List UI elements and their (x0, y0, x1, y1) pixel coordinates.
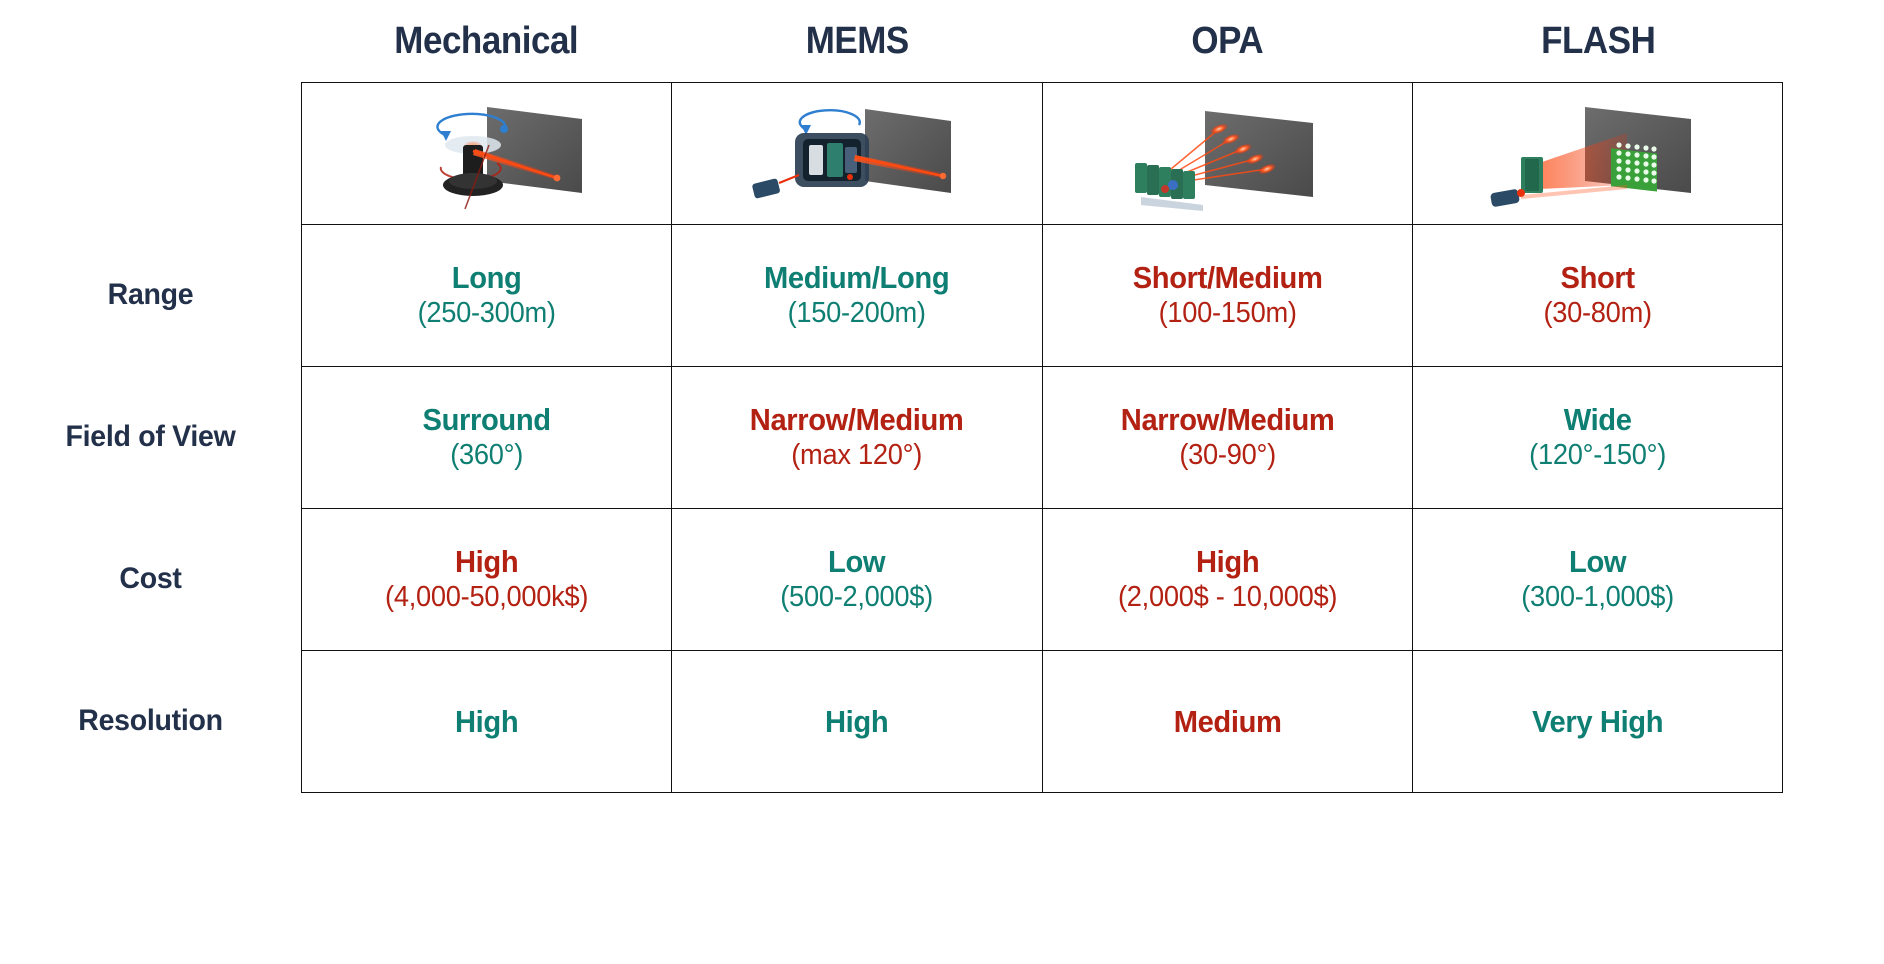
cell-range-flash: Short (30-80m) (1412, 225, 1782, 367)
cell-resolution-opa: Medium (1042, 651, 1412, 793)
cell-value-sub: (150-200m) (683, 296, 1030, 331)
cell-value-main: Short (1424, 260, 1771, 296)
row-label-range: Range (8, 224, 294, 366)
cell-value-main: Medium (1054, 704, 1401, 740)
cell-illustration-mechanical (302, 83, 672, 225)
cell-value-main: High (683, 704, 1030, 740)
cell-range-mems: Medium/Long (150-200m) (672, 225, 1042, 367)
table-row: High (4,000-50,000k$) Low (500-2,000$) H… (302, 509, 1783, 651)
lidar-comparison-table-page: Mechanical MEMS OPA FLASH Range Field of… (0, 0, 1884, 964)
cell-value-main: High (313, 544, 660, 580)
cell-value-sub: (100-150m) (1054, 296, 1401, 331)
row-label-text: Range (108, 278, 194, 312)
mems-lidar-icon (672, 83, 1041, 224)
flash-lidar-icon (1413, 83, 1782, 224)
cell-value-main: Narrow/Medium (1054, 402, 1401, 438)
cell-value-sub: (max 120°) (683, 438, 1030, 473)
cell-fov-opa: Narrow/Medium (30-90°) (1042, 367, 1412, 509)
cell-resolution-mems: High (672, 651, 1042, 793)
cell-value-sub: (120°-150°) (1424, 438, 1771, 473)
cell-resolution-mechanical: High (302, 651, 672, 793)
cell-value-sub: (2,000$ - 10,000$) (1054, 580, 1401, 615)
cell-value-main: Narrow/Medium (683, 402, 1030, 438)
column-header-mechanical: Mechanical (316, 0, 657, 82)
row-label-resolution: Resolution (8, 650, 294, 792)
cell-value-main: Very High (1424, 704, 1771, 740)
column-header-mems: MEMS (686, 0, 1027, 82)
cell-value-main: Low (1424, 544, 1771, 580)
cell-value-sub: (300-1,000$) (1424, 580, 1771, 615)
cell-cost-mechanical: High (4,000-50,000k$) (302, 509, 672, 651)
column-header-row: Mechanical MEMS OPA FLASH (301, 0, 1783, 82)
cell-cost-flash: Low (300-1,000$) (1412, 509, 1782, 651)
row-label-cost: Cost (8, 508, 294, 650)
cell-value-main: Long (313, 260, 660, 296)
column-header-flash: FLASH (1427, 0, 1768, 82)
column-header-label: OPA (1191, 20, 1263, 63)
cell-value-sub: (4,000-50,000k$) (313, 580, 660, 615)
cell-value-sub: (30-90°) (1054, 438, 1401, 473)
cell-fov-mems: Narrow/Medium (max 120°) (672, 367, 1042, 509)
cell-value-sub: (250-300m) (313, 296, 660, 331)
cell-illustration-flash (1412, 83, 1782, 225)
cell-illustration-mems (672, 83, 1042, 225)
cell-value-sub: (360°) (313, 438, 660, 473)
cell-resolution-flash: Very High (1412, 651, 1782, 793)
cell-cost-mems: Low (500-2,000$) (672, 509, 1042, 651)
table-row: Surround (360°) Narrow/Medium (max 120°)… (302, 367, 1783, 509)
cell-value-sub: (500-2,000$) (683, 580, 1030, 615)
table-row: High High Medium Very High (302, 651, 1783, 793)
cell-value-sub: (30-80m) (1424, 296, 1771, 331)
cell-value-main: Surround (313, 402, 660, 438)
row-label-text: Cost (119, 562, 181, 596)
cell-range-opa: Short/Medium (100-150m) (1042, 225, 1412, 367)
row-label-text: Field of View (66, 420, 236, 454)
cell-fov-flash: Wide (120°-150°) (1412, 367, 1782, 509)
cell-fov-mechanical: Surround (360°) (302, 367, 672, 509)
cell-cost-opa: High (2,000$ - 10,000$) (1042, 509, 1412, 651)
mechanical-lidar-icon (302, 83, 671, 224)
cell-range-mechanical: Long (250-300m) (302, 225, 672, 367)
cell-value-main: Wide (1424, 402, 1771, 438)
column-header-label: FLASH (1541, 20, 1655, 63)
cell-value-main: High (1054, 544, 1401, 580)
column-header-opa: OPA (1057, 0, 1398, 82)
cell-illustration-opa (1042, 83, 1412, 225)
cell-value-main: High (313, 704, 660, 740)
cell-value-main: Medium/Long (683, 260, 1030, 296)
cell-value-main: Short/Medium (1054, 260, 1401, 296)
opa-lidar-icon (1043, 83, 1412, 224)
cell-value-main: Low (683, 544, 1030, 580)
comparison-table: Long (250-300m) Medium/Long (150-200m) S… (301, 82, 1783, 793)
column-header-label: Mechanical (394, 20, 578, 63)
table-row: Long (250-300m) Medium/Long (150-200m) S… (302, 225, 1783, 367)
row-label-field-of-view: Field of View (8, 366, 294, 508)
table-row-illustrations (302, 83, 1783, 225)
row-label-text: Resolution (78, 704, 222, 738)
row-label-spacer-illustrations (0, 82, 301, 224)
row-label-column: Range Field of View Cost Resolution (0, 82, 301, 792)
column-header-label: MEMS (805, 20, 908, 63)
